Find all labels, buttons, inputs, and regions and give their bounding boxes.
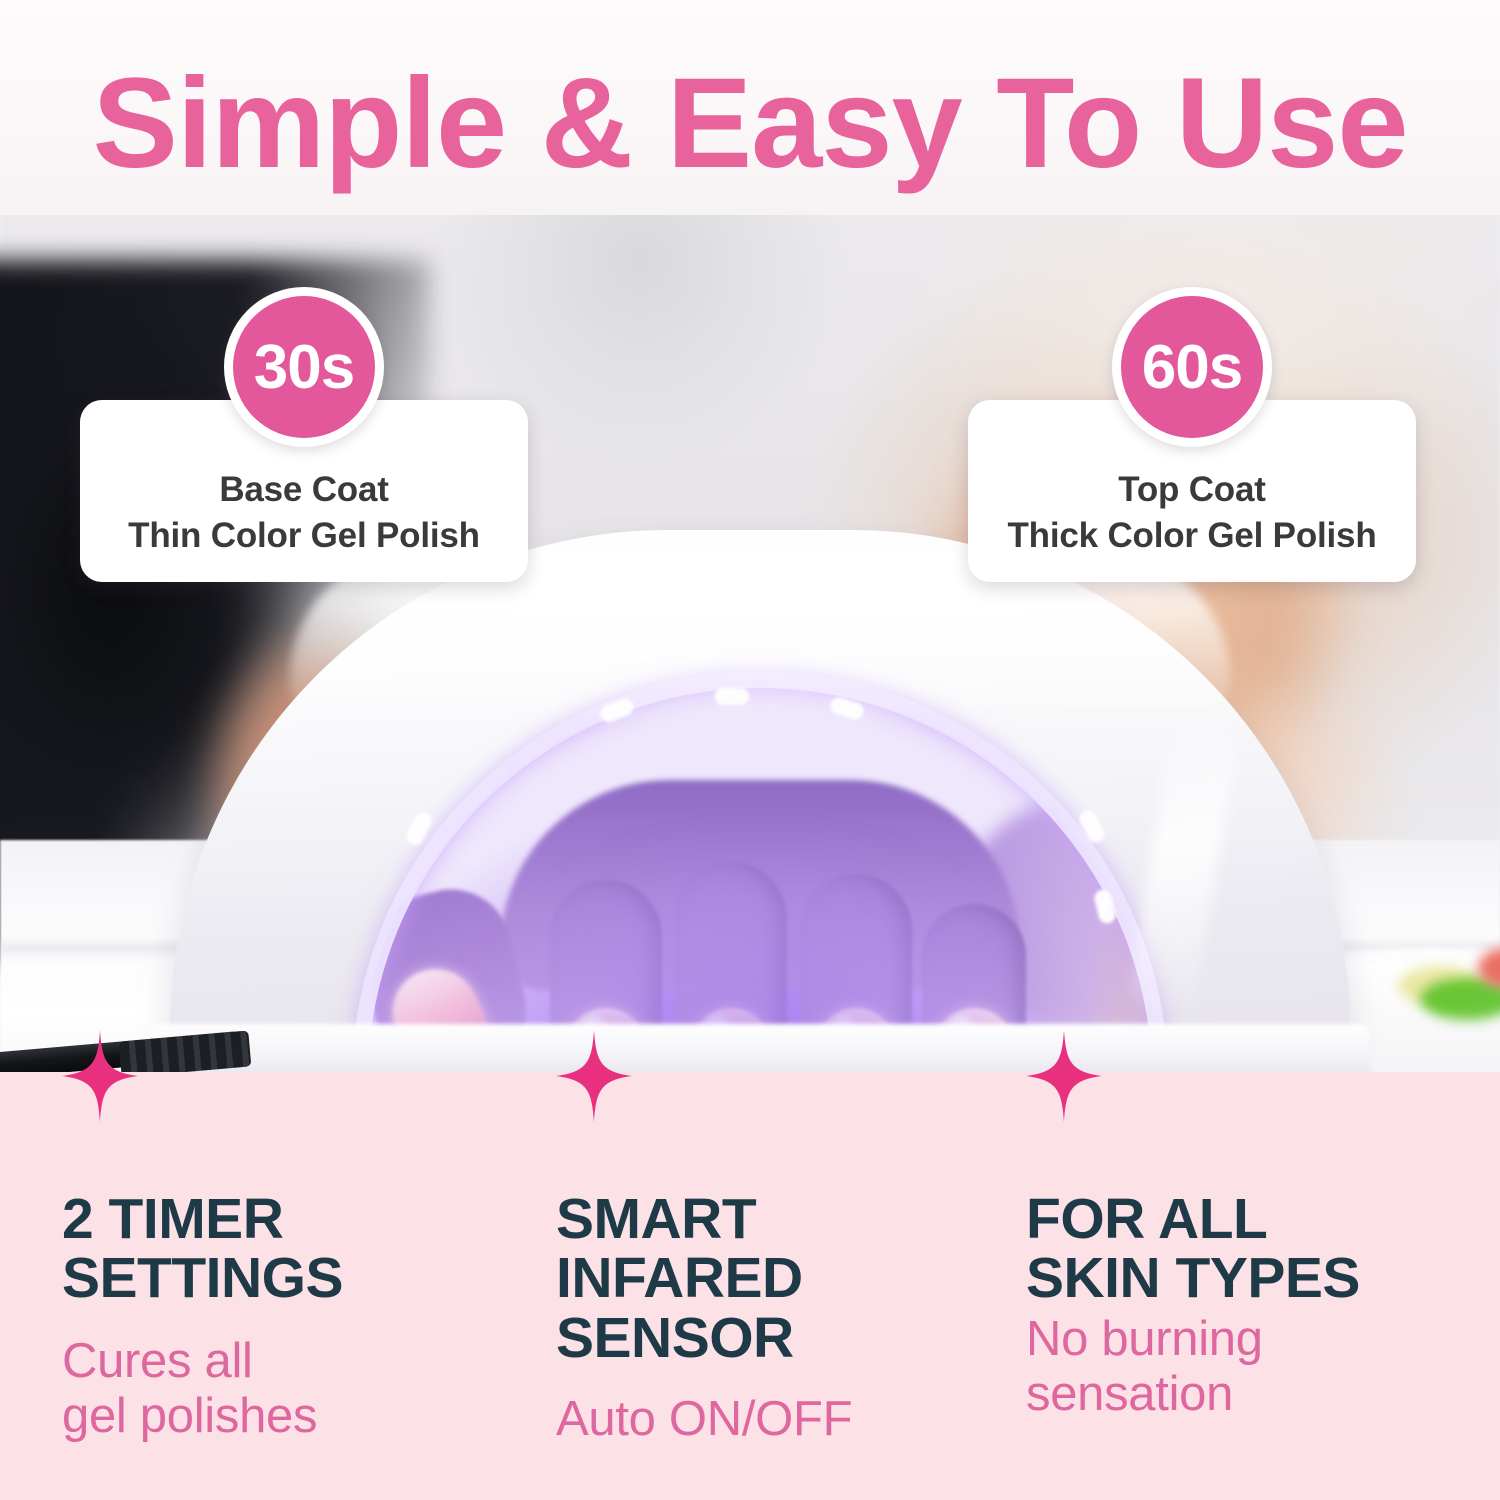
feature-heading: FOR ALL SKIN TYPES	[1026, 1190, 1496, 1309]
feature-subtext-line-2: gel polishes	[62, 1389, 532, 1444]
feature-subtext: Cures all gel polishes	[62, 1334, 532, 1444]
feature-heading-line-2: SKIN TYPES	[1026, 1249, 1496, 1308]
badge-line-1: Base Coat	[219, 468, 388, 513]
feature-all-skin-types: FOR ALL SKIN TYPES No burning sensation	[1026, 1072, 1496, 1500]
feature-subtext: No burning sensation	[1026, 1312, 1496, 1422]
uv-nail-lamp	[170, 530, 1350, 1090]
feature-subtext: Auto ON/OFF	[556, 1392, 1026, 1447]
feature-heading-line-2: SETTINGS	[62, 1249, 532, 1308]
badge-line-1: Top Coat	[1118, 468, 1265, 513]
badge-time-circle: 60s	[1112, 287, 1272, 447]
sparkle-icon	[62, 1030, 138, 1122]
feature-infrared-sensor: SMART INFARED SENSOR Auto ON/OFF	[556, 1072, 1026, 1500]
feature-subtext-line-1: No burning	[1026, 1312, 1496, 1367]
page-title: Simple & Easy To Use	[0, 60, 1500, 188]
feature-heading-line-1: SMART	[556, 1190, 1026, 1249]
sparkle-icon	[556, 1030, 632, 1122]
feature-heading-line-1: FOR ALL	[1026, 1190, 1496, 1249]
feature-heading-line-1: 2 TIMER	[62, 1190, 532, 1249]
feature-heading: SMART INFARED SENSOR	[556, 1190, 1026, 1368]
feature-heading-line-2: INFARED	[556, 1249, 1026, 1308]
feature-subtext-line-1: Auto ON/OFF	[556, 1392, 1026, 1447]
feature-subtext-line-1: Cures all	[62, 1334, 532, 1389]
badge-line-2: Thin Color Gel Polish	[128, 513, 480, 560]
shell-gloss-highlight	[470, 592, 1070, 650]
badge-line-2: Thick Color Gel Polish	[1008, 513, 1377, 560]
badge-time-circle: 30s	[224, 287, 384, 447]
feature-subtext-line-2: sensation	[1026, 1367, 1496, 1422]
feature-heading-line-3: SENSOR	[556, 1309, 1026, 1368]
product-infographic: Simple & Easy To Use Base Coat Thin Colo…	[0, 0, 1500, 1500]
feature-heading: 2 TIMER SETTINGS	[62, 1190, 532, 1309]
sparkle-icon	[1026, 1030, 1102, 1122]
feature-timer-settings: 2 TIMER SETTINGS Cures all gel polishes	[62, 1072, 532, 1500]
header-bar: Simple & Easy To Use	[0, 0, 1500, 215]
features-section: 2 TIMER SETTINGS Cures all gel polishes …	[0, 1072, 1500, 1500]
product-photo	[0, 200, 1500, 1090]
